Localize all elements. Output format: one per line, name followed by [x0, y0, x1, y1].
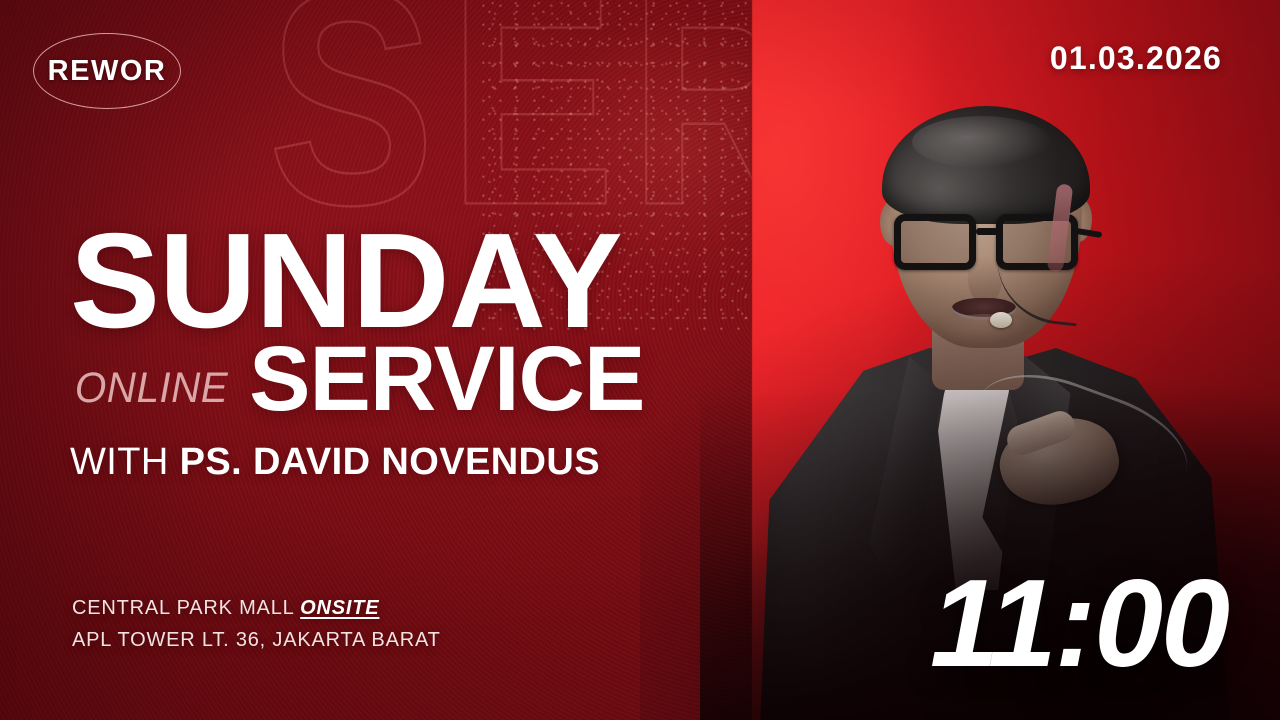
venue-line-2: APL TOWER LT. 36, JAKARTA BARAT — [72, 624, 441, 656]
speaker-name: PS. DAVID NOVENDUS — [180, 441, 600, 483]
event-time: 11:00 — [930, 562, 1228, 686]
brand-logo-text: REWOR — [48, 55, 167, 88]
promo-poster: SERV REWO — [0, 0, 1280, 720]
speaker-credit-line: WITH PS. DAVID NOVENDUS — [70, 441, 730, 484]
headline-online-word: ONLINE — [75, 364, 228, 423]
venue-details: CENTRAL PARK MALL ONSITE APL TOWER LT. 3… — [72, 592, 441, 657]
venue-name: CENTRAL PARK MALL — [72, 597, 300, 619]
venue-line-1: CENTRAL PARK MALL ONSITE — [72, 592, 441, 624]
headline-sunday: SUNDAY — [70, 218, 730, 345]
venue-onsite-badge: ONSITE — [300, 597, 379, 619]
speaker-credit-prefix: WITH — [70, 441, 180, 483]
headline-block: SUNDAY ONLINE SERVICE WITH PS. DAVID NOV… — [70, 218, 730, 484]
event-date: 01.03.2026 — [1050, 40, 1222, 77]
brand-logo: REWOR — [33, 33, 181, 109]
